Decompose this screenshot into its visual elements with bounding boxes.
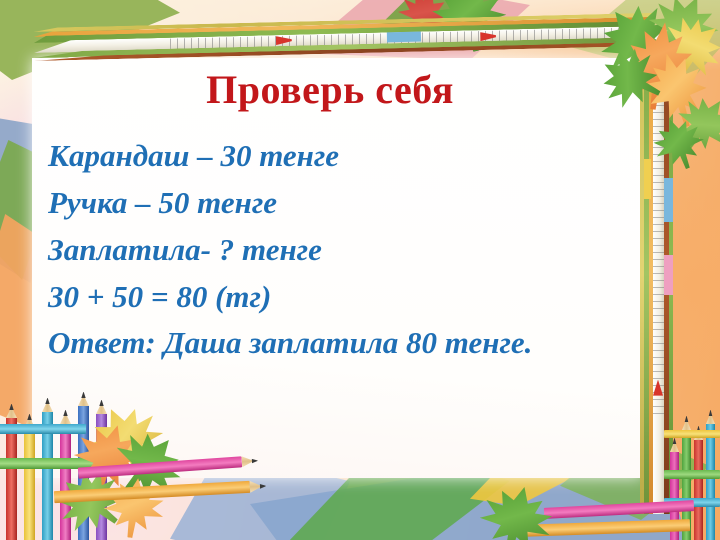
text-line-answer: Ответ: Даша заплатила 80 тенге. (48, 320, 628, 366)
ruler-strip-top (34, 11, 655, 62)
pencil-cyan-bar-bottomleft (0, 424, 86, 434)
pencil-red-right (694, 440, 703, 540)
pencil-yellow-bottomleft (24, 428, 35, 540)
pencil-cyan-right (706, 424, 715, 540)
pencil-magenta-bottomleft (60, 424, 71, 540)
text-line-pen-price: Ручка – 50 тенге (48, 179, 628, 226)
body-text-block: Карандаш – 30 тенге Ручка – 50 тенге Зап… (48, 132, 628, 366)
pencil-green-bar-right (664, 470, 720, 479)
text-line-equation: 30 + 50 = 80 (тг) (48, 273, 628, 320)
text-line-pencil-price: Карандаш – 30 тенге (48, 132, 628, 179)
pencil-yellow-bar-right (664, 430, 720, 438)
pencil-red-bottomleft (6, 418, 17, 540)
pencil-orange-bottomright (520, 519, 690, 537)
slide-canvas: Проверь себя Карандаш – 30 тенге Ручка –… (0, 0, 720, 540)
text-line-paid-question: Заплатила- ? тенге (48, 226, 628, 273)
page-title: Проверь себя (0, 66, 660, 113)
maple-leaf-orange-bottomleft-2 (100, 474, 168, 540)
